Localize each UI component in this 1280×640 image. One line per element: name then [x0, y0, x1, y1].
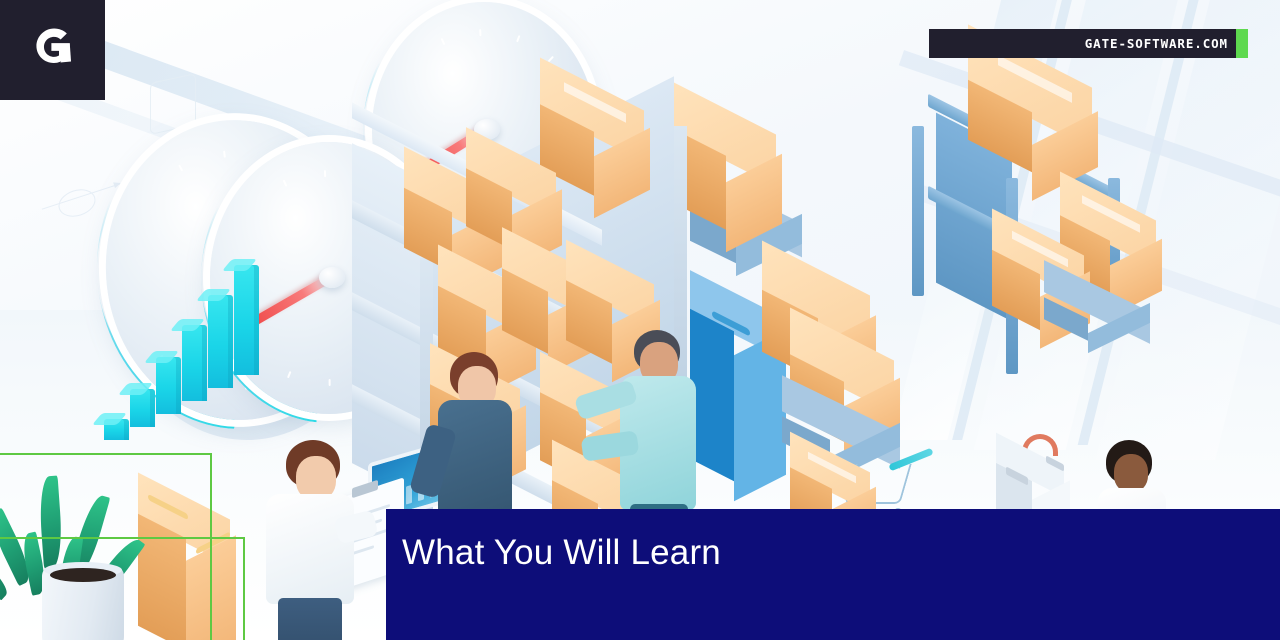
toolbox — [996, 430, 1106, 520]
kpi-bar-chart — [104, 320, 274, 440]
gauge-hub — [319, 267, 345, 288]
plant-pot — [42, 566, 124, 640]
gate-software-logo[interactable] — [0, 0, 105, 100]
head — [1114, 454, 1148, 492]
gauge-tick — [516, 35, 521, 42]
gauge-tick — [329, 379, 331, 386]
kpi-bar — [234, 265, 259, 375]
gauge-tick — [282, 180, 287, 187]
url-badge-accent — [1236, 29, 1248, 58]
cardboard-box — [968, 56, 1158, 186]
page-title: What You Will Learn — [386, 509, 721, 573]
gauge-tick — [178, 164, 183, 171]
logo-g-icon — [27, 24, 79, 76]
slide-root: GATE-SOFTWARE.COM What You Will Learn — [0, 0, 1280, 640]
url-badge-text: GATE-SOFTWARE.COM — [1085, 36, 1248, 51]
gauge-tick — [479, 29, 482, 36]
gauge-tick — [287, 371, 292, 378]
cardboard-box — [466, 150, 616, 260]
kpi-bar — [104, 419, 129, 440]
kpi-bar — [156, 357, 181, 414]
kpi-bar — [208, 295, 233, 388]
url-badge[interactable]: GATE-SOFTWARE.COM — [929, 29, 1248, 58]
title-banner: What You Will Learn — [386, 509, 1280, 640]
kpi-bar — [130, 389, 155, 427]
potted-plant — [0, 470, 190, 640]
gauge-tick — [324, 170, 327, 177]
torso — [266, 494, 354, 604]
pallet-truck — [1044, 286, 1174, 346]
legs — [278, 598, 342, 640]
gauge-tick — [440, 38, 445, 45]
gauge-tick — [223, 151, 226, 158]
plant-soil — [50, 568, 116, 582]
kpi-bar — [182, 325, 207, 401]
